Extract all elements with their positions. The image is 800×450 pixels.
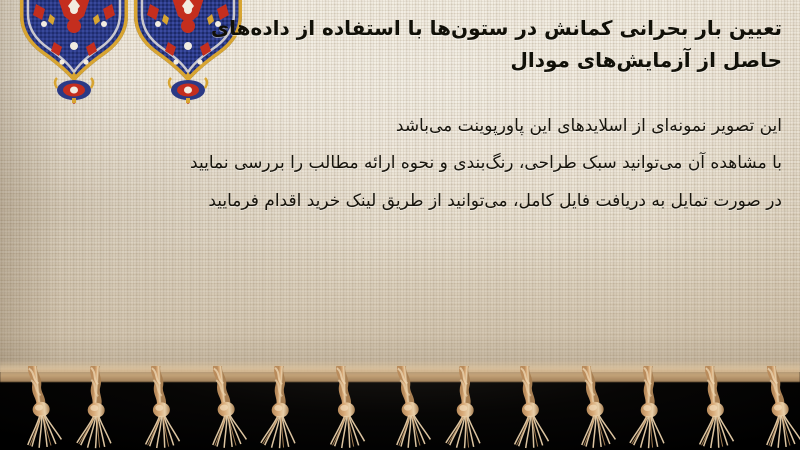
slide-title: تعیین بار بحرانی کمانش در ستون‌ها با است… — [162, 12, 782, 77]
presentation-slide: تعیین بار بحرانی کمانش در ستون‌ها با است… — [0, 0, 800, 450]
tassel — [11, 366, 65, 450]
knotted-tassel-fringe — [0, 366, 800, 450]
tassel — [134, 366, 188, 450]
tassel — [503, 366, 557, 450]
tassel — [688, 366, 742, 450]
slide-body-line-3: در صورت تمایل به دریافت فایل کامل، می‌تو… — [22, 183, 782, 220]
slide-text-layer: تعیین بار بحرانی کمانش در ستون‌ها با است… — [0, 0, 800, 378]
tassel — [442, 366, 496, 450]
slide-body-line-2: با مشاهده آن می‌توانید سبک طراحی، رنگ‌بن… — [22, 145, 782, 182]
slide-body-line-1: این تصویر نمونه‌ای از اسلایدهای این پاور… — [22, 108, 782, 145]
slide-title-line-2: حاصل از آزمایش‌های مودال — [162, 44, 782, 76]
tassel — [626, 366, 680, 450]
tassel — [257, 366, 311, 450]
slide-title-line-1: تعیین بار بحرانی کمانش در ستون‌ها با است… — [162, 12, 782, 44]
tassel — [196, 366, 250, 450]
tassel — [319, 366, 373, 450]
tassel — [73, 366, 127, 450]
slide-body: این تصویر نمونه‌ای از اسلایدهای این پاور… — [22, 108, 782, 220]
tassel — [750, 366, 800, 450]
tassel — [380, 366, 434, 450]
tassel — [565, 366, 619, 450]
